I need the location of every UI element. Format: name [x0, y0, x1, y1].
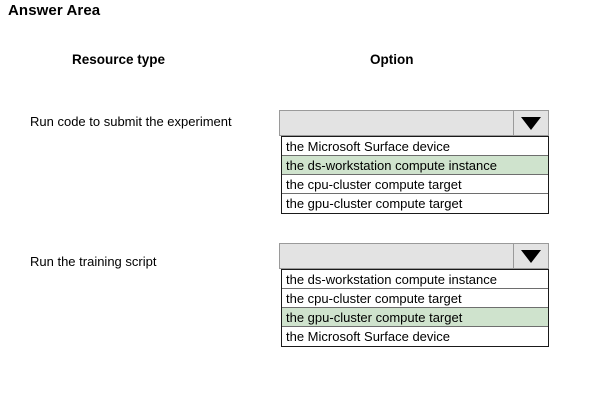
triangle-glyph [521, 117, 541, 130]
chevron-down-icon[interactable] [513, 111, 548, 135]
column-header-resource-type: Resource type [72, 52, 165, 67]
dropdown-1[interactable] [279, 110, 549, 136]
list-item[interactable]: the gpu-cluster compute target [282, 194, 548, 213]
column-header-option: Option [370, 52, 414, 67]
list-item[interactable]: the gpu-cluster compute target [282, 308, 548, 327]
list-item[interactable]: the Microsoft Surface device [282, 137, 548, 156]
list-item[interactable]: the ds-workstation compute instance [282, 270, 548, 289]
chevron-down-icon[interactable] [513, 244, 548, 268]
row-label-run-the-training-script: Run the training script [30, 254, 156, 269]
dropdown-1-option-list[interactable]: the Microsoft Surface device the ds-work… [281, 136, 549, 214]
row-label-run-code-to-submit-the-experiment: Run code to submit the experiment [30, 114, 232, 129]
dropdown-2[interactable] [279, 243, 549, 269]
list-item[interactable]: the Microsoft Surface device [282, 327, 548, 346]
dropdown-2-value[interactable] [280, 244, 513, 268]
dropdown-1-value[interactable] [280, 111, 513, 135]
dropdown-2-option-list[interactable]: the ds-workstation compute instance the … [281, 269, 549, 347]
list-item[interactable]: the ds-workstation compute instance [282, 156, 548, 175]
page-title: Answer Area [8, 2, 100, 19]
triangle-glyph [521, 250, 541, 263]
list-item[interactable]: the cpu-cluster compute target [282, 175, 548, 194]
list-item[interactable]: the cpu-cluster compute target [282, 289, 548, 308]
